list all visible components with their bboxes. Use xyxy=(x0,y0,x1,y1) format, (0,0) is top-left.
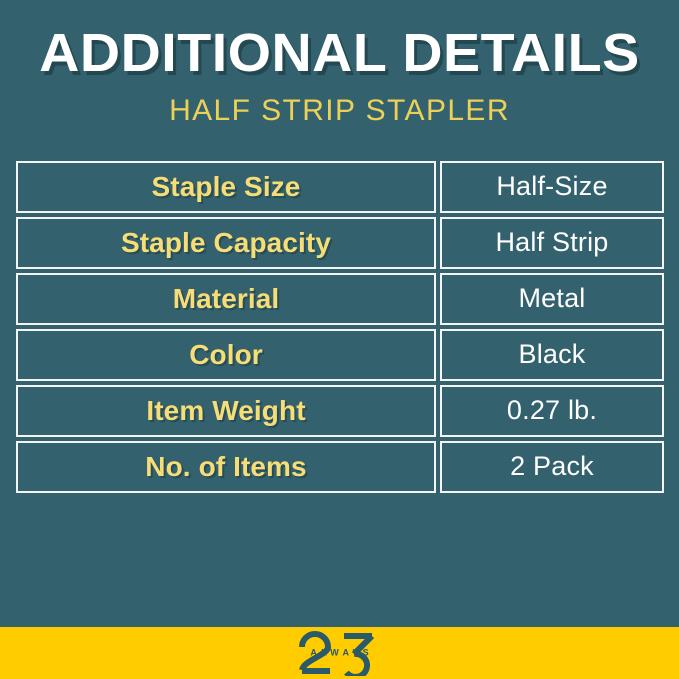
spec-label-cell: No. of Items xyxy=(16,441,436,493)
product-detail-card: ADDITIONAL DETAILS HALF STRIP STAPLER St… xyxy=(0,0,679,679)
spec-value-cell: 2 Pack xyxy=(440,441,664,493)
spec-label: Staple Size xyxy=(152,171,301,203)
header: ADDITIONAL DETAILS HALF STRIP STAPLER xyxy=(0,0,679,127)
spec-value-cell: 0.27 lb. xyxy=(440,385,664,437)
spec-label: Item Weight xyxy=(146,395,305,427)
table-row: Color Black xyxy=(16,329,664,381)
spacer xyxy=(0,493,679,627)
spec-value-cell: Black xyxy=(440,329,664,381)
spec-value: 2 Pack xyxy=(510,451,594,482)
brand-logo: ALWAYS xyxy=(292,627,388,679)
spec-value: Half Strip xyxy=(495,227,608,258)
table-row: Material Metal xyxy=(16,273,664,325)
spec-label: No. of Items xyxy=(145,451,306,483)
spec-value-cell: Metal xyxy=(440,273,664,325)
table-row: No. of Items 2 Pack xyxy=(16,441,664,493)
spec-label: Color xyxy=(189,339,263,371)
table-row: Staple Capacity Half Strip xyxy=(16,217,664,269)
logo-wordmark: ALWAYS xyxy=(292,649,388,658)
spec-value-cell: Half-Size xyxy=(440,161,664,213)
footer-bar: ALWAYS xyxy=(0,627,679,679)
spec-label-cell: Staple Capacity xyxy=(16,217,436,269)
spec-label-cell: Color xyxy=(16,329,436,381)
table-row: Staple Size Half-Size xyxy=(16,161,664,213)
page-subtitle: HALF STRIP STAPLER xyxy=(0,95,679,127)
spec-value: Black xyxy=(518,339,585,370)
spec-value: Half-Size xyxy=(496,171,607,202)
spec-label-cell: Staple Size xyxy=(16,161,436,213)
page-title: ADDITIONAL DETAILS xyxy=(0,26,679,81)
spec-label: Material xyxy=(173,283,280,315)
spec-label: Staple Capacity xyxy=(121,227,331,259)
spec-label-cell: Item Weight xyxy=(16,385,436,437)
spec-value-cell: Half Strip xyxy=(440,217,664,269)
spec-value: 0.27 lb. xyxy=(507,395,597,426)
table-row: Item Weight 0.27 lb. xyxy=(16,385,664,437)
spec-label-cell: Material xyxy=(16,273,436,325)
spec-table: Staple Size Half-Size Staple Capacity Ha… xyxy=(16,161,664,493)
spec-value: Metal xyxy=(518,283,585,314)
